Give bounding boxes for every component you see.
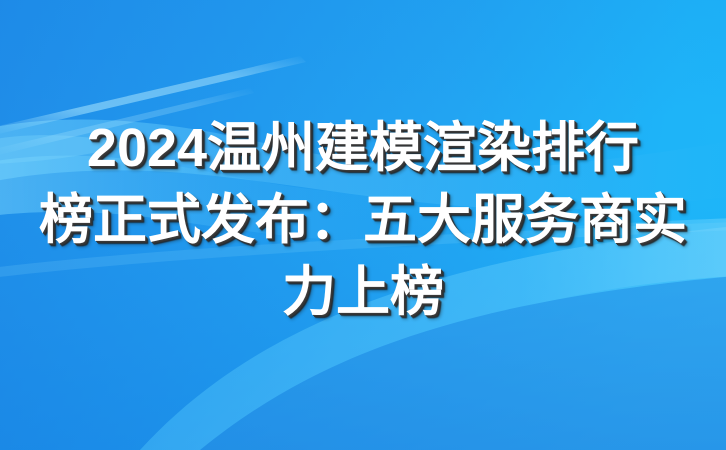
title-line-1: 2024温州建模渲染排行 bbox=[24, 112, 702, 184]
banner-title: 2024温州建模渲染排行 榜正式发布：五大服务商实 力上榜 bbox=[0, 112, 726, 328]
title-line-3: 力上榜 bbox=[24, 256, 702, 328]
banner-card: 2024温州建模渲染排行 榜正式发布：五大服务商实 力上榜 bbox=[0, 0, 726, 450]
title-line-2: 榜正式发布：五大服务商实 bbox=[24, 184, 702, 256]
